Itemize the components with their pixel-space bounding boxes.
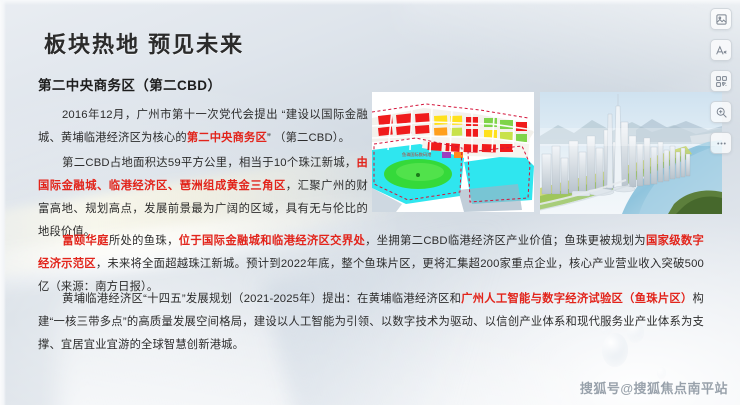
translate-a-icon[interactable]	[710, 39, 732, 61]
p1-highlight: 第二中央商务区	[187, 132, 267, 144]
image-crop-glyph	[715, 13, 728, 26]
figure-planning-map[interactable]: 鱼珠国际数码港	[372, 92, 534, 212]
p3-highlight-1: 富颐华庭	[62, 235, 109, 247]
figure-city-render[interactable]	[540, 92, 722, 214]
watermark: 搜狐号@搜狐焦点南平站	[580, 378, 728, 397]
map-label: 鱼珠国际数码港	[402, 151, 432, 158]
more-dots-glyph	[715, 137, 728, 150]
zoom-in-glyph	[715, 106, 728, 119]
section-title: 第二中央商务区（第二CBD）	[38, 74, 221, 94]
planning-map-illustration: 鱼珠国际数码港	[372, 92, 534, 212]
page-title: 板块热地 预见未来	[44, 27, 244, 59]
translate-a-glyph	[715, 44, 728, 57]
floating-toolbar	[710, 8, 732, 154]
p1-text-b: ” （第二CBD）。	[267, 132, 350, 144]
more-dots-icon[interactable]	[710, 132, 732, 154]
p2-text-a: 第二CBD占地面积达59平方公里，相当于10个珠江新城，	[62, 157, 357, 169]
zoom-in-icon[interactable]	[710, 101, 732, 123]
p4-highlight: 广州人工智能与数字经济试验区（鱼珠片区）	[461, 293, 692, 305]
p3-highlight-2: 位于国际金融城和临港经济区交界处	[179, 235, 365, 247]
city-render-illustration	[540, 92, 722, 214]
qr-code-glyph	[715, 75, 728, 88]
qr-code-icon[interactable]	[710, 70, 732, 92]
p3-text-b: ，坐拥第二CBD临港经济区产业价值；鱼珠更被规划为	[365, 235, 646, 247]
article-content: 板块热地 预见未来 第二中央商务区（第二CBD） 2016年12月，广州市第十一…	[0, 0, 740, 405]
image-crop-icon[interactable]	[710, 8, 732, 30]
p3-text-a: 所处的鱼珠，	[109, 235, 179, 247]
paragraph-1: 2016年12月，广州市第十一次党代会提出 “建设以国际金融城、黄埔临港经济区为…	[38, 104, 368, 150]
paragraph-4: 黄埔临港经济区“十四五”发展规划（2021-2025年）提出：在黄埔临港经济区和…	[38, 288, 704, 357]
article-page: 板块热地 预见未来 第二中央商务区（第二CBD） 2016年12月，广州市第十一…	[0, 0, 740, 405]
p4-text-a: 黄埔临港经济区“十四五”发展规划（2021-2025年）提出：在黄埔临港经济区和	[62, 293, 461, 305]
